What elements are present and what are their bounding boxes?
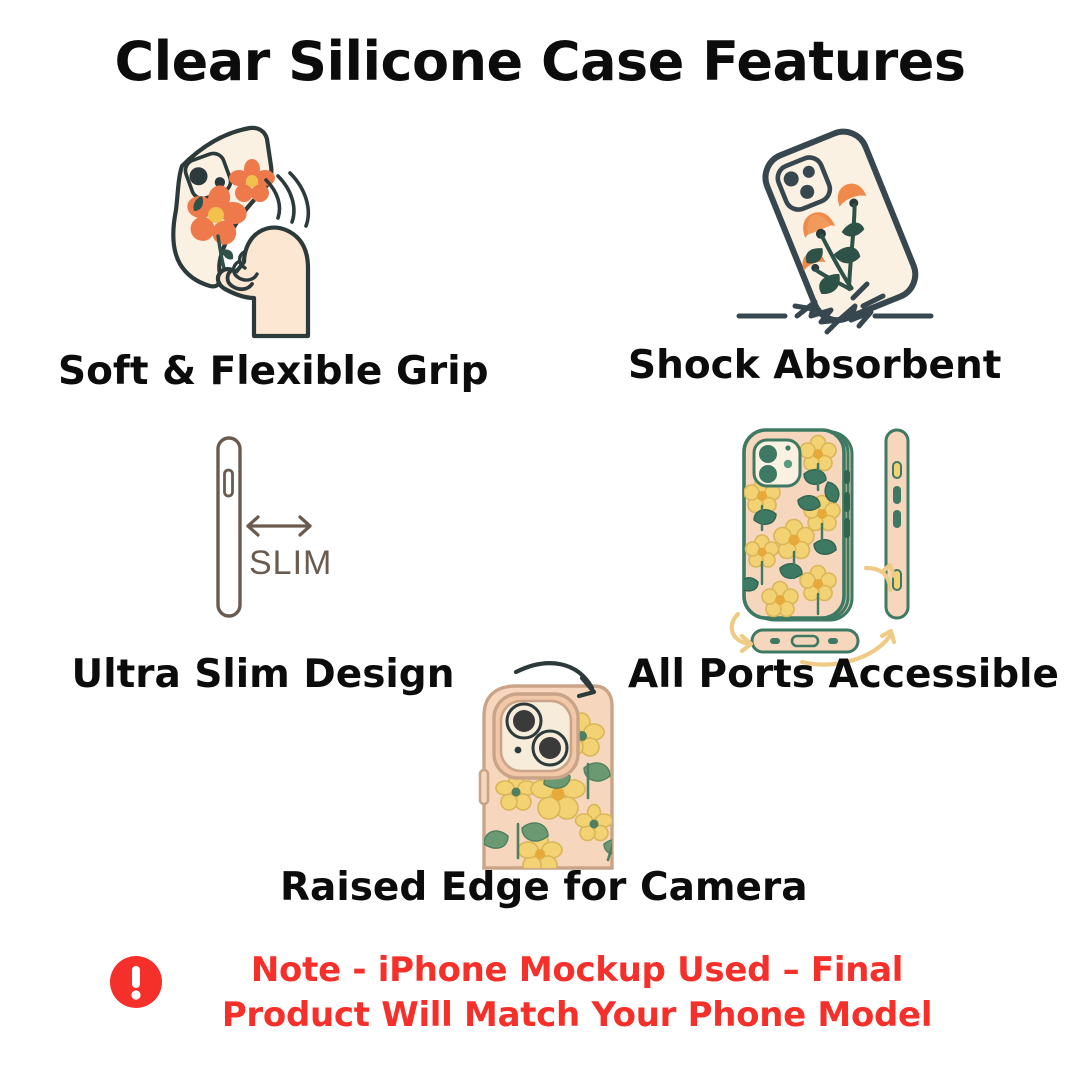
ultra-slim-design-illustration: SLIM [190, 428, 360, 628]
all-ports-accessible-illustration [718, 418, 948, 668]
side-button-icon [480, 770, 488, 804]
flash-dot-icon [515, 747, 522, 754]
hand-icon [218, 228, 308, 336]
phone-bottom-edge-icon [752, 630, 858, 652]
infographic-page: Clear Silicone Case Features [0, 0, 1080, 1080]
phone-back-view-icon [740, 430, 850, 618]
note-banner: Note - iPhone Mockup Used – Final Produc… [0, 948, 1080, 1038]
raised-edge-camera-illustration [448, 658, 648, 858]
speaker-hole-icon [770, 638, 780, 644]
camera-module-icon [754, 440, 800, 486]
page-title: Clear Silicone Case Features [0, 32, 1080, 91]
feature-label-shock-absorbent: Shock Absorbent [628, 346, 994, 385]
speaker-hole-icon [828, 638, 838, 644]
feature-label-all-ports-accessible: All Ports Accessible [628, 655, 1024, 694]
feature-label-raised-edge-for-camera: Raised Edge for Camera [280, 868, 792, 907]
phone-side-profile-icon [218, 438, 240, 616]
mute-switch-cutout-icon [893, 462, 901, 478]
volume-down-cutout-icon [893, 510, 901, 528]
shock-absorbent-illustration [735, 120, 945, 335]
soft-flexible-grip-illustration [140, 118, 370, 343]
exclamation-circle-icon [108, 954, 164, 1014]
note-text: Note - iPhone Mockup Used – Final Produc… [182, 948, 972, 1038]
charging-port-icon [792, 636, 818, 646]
tilted-phone-icon [758, 124, 922, 327]
width-arrow-icon [248, 517, 310, 535]
side-button-icon [225, 470, 233, 496]
feature-label-ultra-slim-design: Ultra Slim Design [58, 655, 468, 694]
raised-camera-bump-icon [494, 694, 578, 778]
side-cutouts-icon [844, 470, 850, 538]
volume-up-cutout-icon [893, 486, 901, 504]
slim-caption: SLIM [249, 544, 332, 582]
feature-label-soft-flexible-grip: Soft & Flexible Grip [58, 352, 468, 391]
